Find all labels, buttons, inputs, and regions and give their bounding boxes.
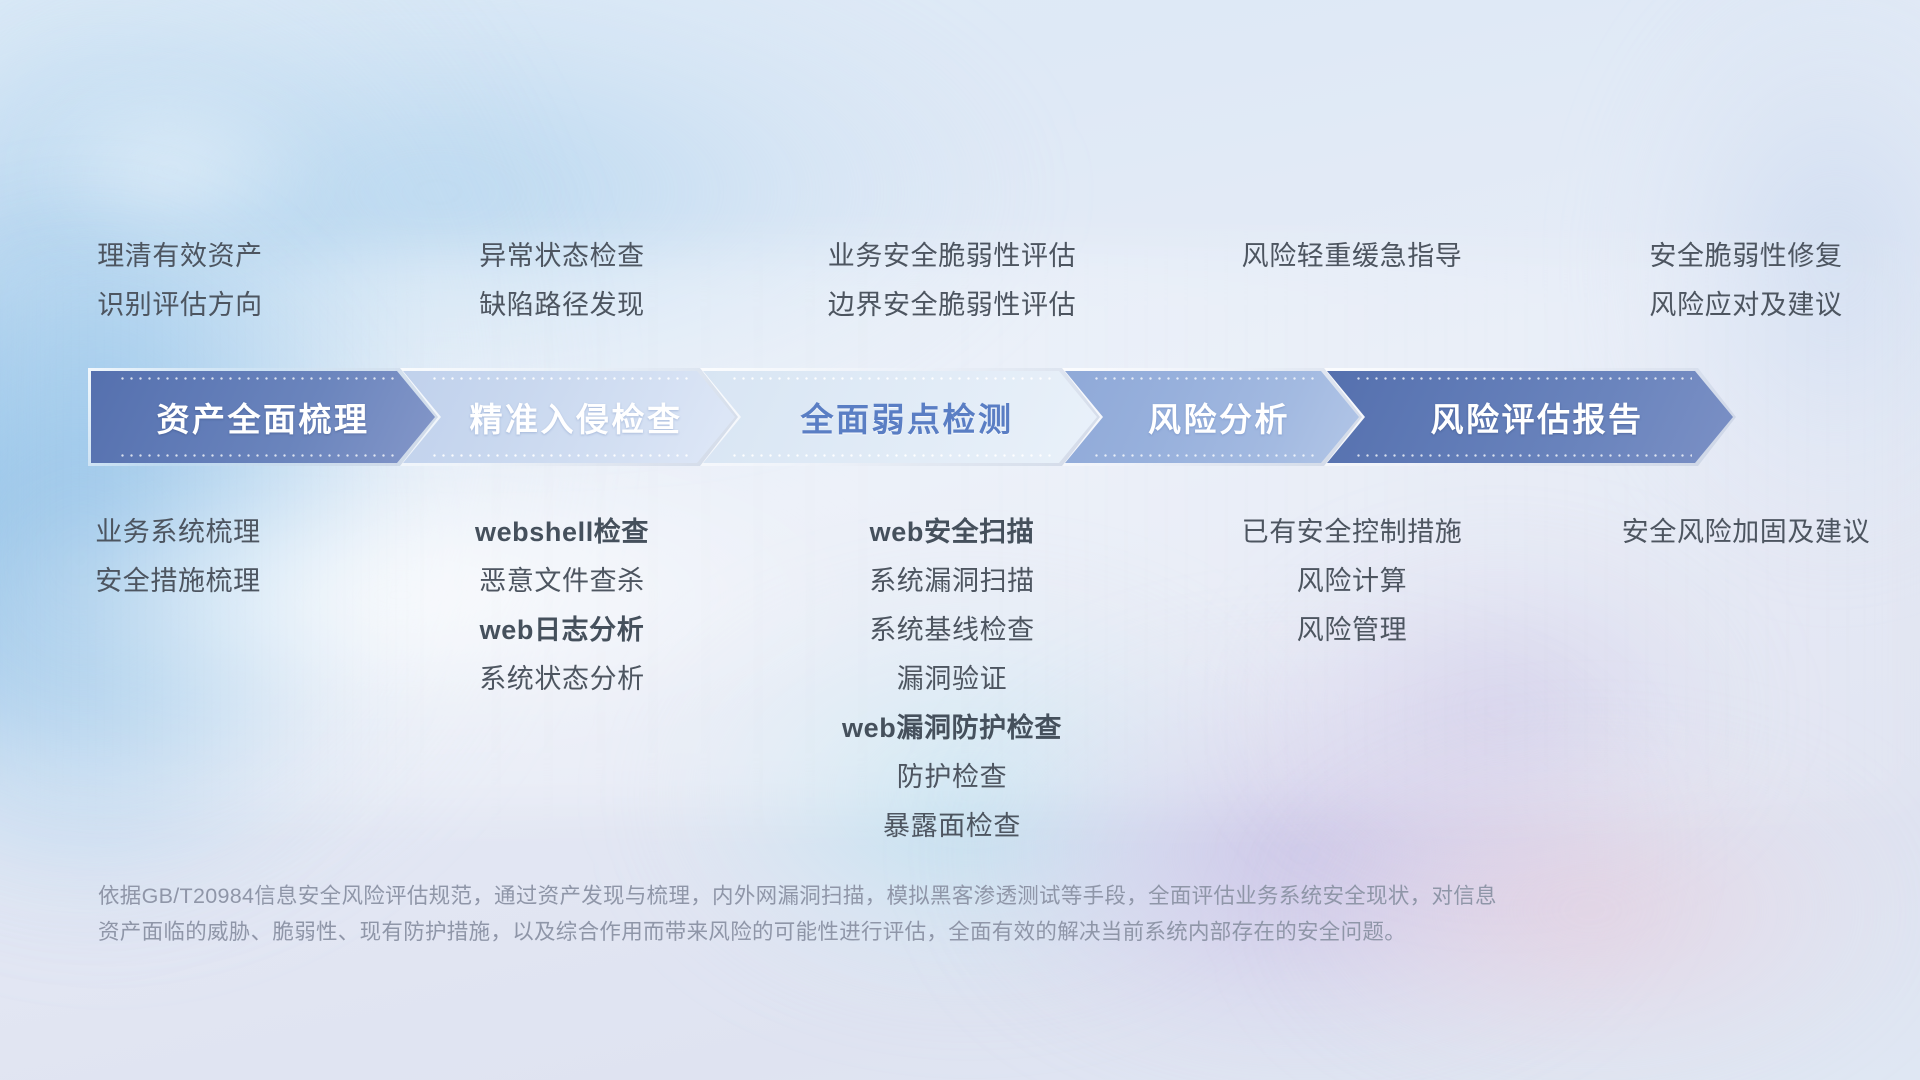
caption-text: 边界安全脆弱性评估 — [828, 281, 1076, 330]
caption-text: 安全风险加固及建议 — [1622, 508, 1870, 557]
bottom-captions-intrusion-check: webshell检查恶意文件查杀web日志分析系统状态分析 — [370, 508, 754, 704]
caption-text: 理清有效资产 — [97, 232, 263, 281]
caption-text: 安全脆弱性修复 — [1649, 232, 1842, 281]
caption-text: 业务安全脆弱性评估 — [828, 232, 1076, 281]
chevron-stage-weakness-detection[interactable]: 全面弱点检测 — [700, 368, 1100, 466]
chevron-label: 风险分析 — [1148, 393, 1290, 441]
caption-text: 识别评估方向 — [97, 281, 263, 330]
caption-text: 风险管理 — [1297, 606, 1407, 655]
chevron-label: 精准入侵检查 — [470, 393, 683, 441]
diagram-content: 理清有效资产 识别评估方向 异常状态检查 缺陷路径发现 业务安全脆弱性评估 边界… — [0, 0, 1920, 1080]
caption-text: 暴露面检查 — [883, 802, 1021, 851]
chevron-stage-asset-inventory[interactable]: 资产全面梳理 — [88, 368, 438, 466]
bottom-captions-asset-inventory: 业务系统梳理安全措施梳理 — [0, 508, 370, 606]
top-captions-intrusion-check: 异常状态检查 缺陷路径发现 — [370, 232, 754, 342]
caption-text: 风险应对及建议 — [1649, 281, 1842, 330]
bottom-captions-assessment-report: 安全风险加固及建议 — [1554, 508, 1920, 557]
bottom-captions-weakness-detection: web安全扫描系统漏洞扫描系统基线检查漏洞验证web漏洞防护检查防护检查暴露面检… — [760, 508, 1144, 851]
chevron-label: 资产全面梳理 — [157, 393, 370, 441]
footer-line-1: 依据GB/T20984信息安全风险评估规范，通过资产发现与梳理，内外网漏洞扫描，… — [98, 878, 1618, 914]
caption-text: 异常状态检查 — [479, 232, 645, 281]
chevron-stage-assessment-report[interactable]: 风险评估报告 — [1324, 368, 1736, 466]
top-caption-row: 理清有效资产 识别评估方向 异常状态检查 缺陷路径发现 业务安全脆弱性评估 边界… — [0, 232, 1920, 342]
caption-text: 业务系统梳理 — [95, 508, 261, 557]
footer-description: 依据GB/T20984信息安全风险评估规范，通过资产发现与梳理，内外网漏洞扫描，… — [98, 878, 1618, 950]
footer-line-2: 资产面临的威胁、脆弱性、现有防护措施，以及综合作用而带来风险的可能性进行评估，全… — [98, 914, 1618, 950]
top-captions-risk-analysis: 风险轻重缓急指导 — [1160, 232, 1544, 342]
chevron-label: 风险评估报告 — [1431, 393, 1644, 441]
caption-text: web安全扫描 — [870, 508, 1035, 557]
caption-text: 漏洞验证 — [897, 655, 1007, 704]
caption-text: 防护检查 — [897, 753, 1007, 802]
caption-text: 风险计算 — [1297, 557, 1407, 606]
process-chevron-bar: 资产全面梳理 精准入侵检查 全面弱点检测 — [88, 368, 1848, 466]
caption-text: webshell检查 — [475, 508, 649, 557]
caption-text: 系统漏洞扫描 — [869, 557, 1035, 606]
bottom-caption-row: 业务系统梳理安全措施梳理 webshell检查恶意文件查杀web日志分析系统状态… — [0, 508, 1920, 851]
chevron-stage-intrusion-check[interactable]: 精准入侵检查 — [400, 368, 738, 466]
chevron-stage-risk-analysis[interactable]: 风险分析 — [1062, 368, 1362, 466]
caption-text: 系统基线检查 — [869, 606, 1035, 655]
caption-text: 已有安全控制措施 — [1242, 508, 1463, 557]
caption-text: 恶意文件查杀 — [479, 557, 645, 606]
caption-text: web漏洞防护检查 — [842, 704, 1062, 753]
caption-text: 系统状态分析 — [479, 655, 645, 704]
caption-text: 风险轻重缓急指导 — [1242, 232, 1463, 281]
top-captions-weakness-detection: 业务安全脆弱性评估 边界安全脆弱性评估 — [760, 232, 1144, 342]
caption-text: 安全措施梳理 — [95, 557, 261, 606]
top-captions-assessment-report: 安全脆弱性修复 风险应对及建议 — [1554, 232, 1920, 342]
top-captions-asset-inventory: 理清有效资产 识别评估方向 — [0, 232, 372, 342]
bottom-captions-risk-analysis: 已有安全控制措施风险计算风险管理 — [1160, 508, 1544, 655]
caption-text: web日志分析 — [480, 606, 645, 655]
caption-text: 缺陷路径发现 — [479, 281, 645, 330]
chevron-label: 全面弱点检测 — [801, 393, 1014, 441]
